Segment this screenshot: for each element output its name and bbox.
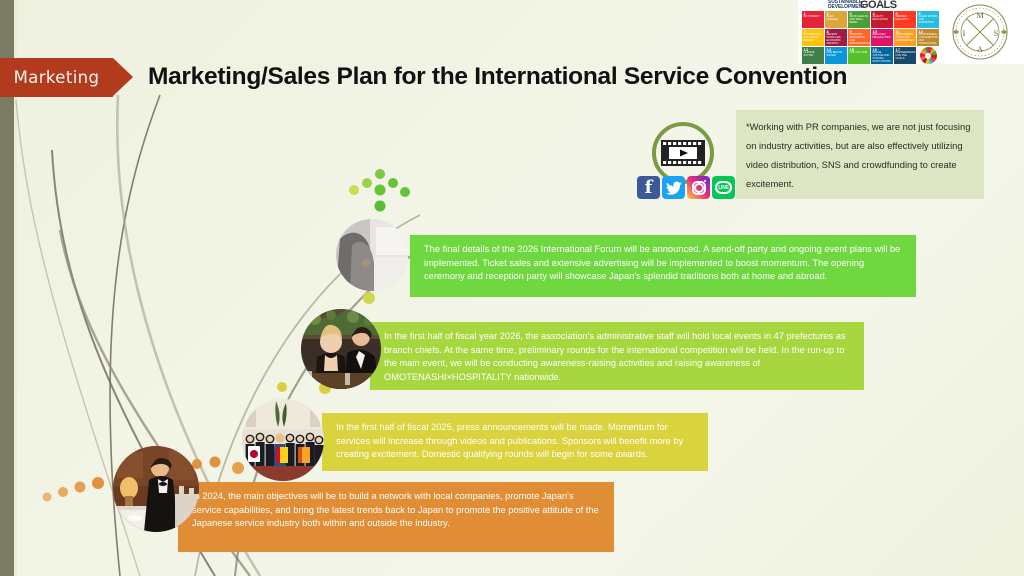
sdg-goal-13: 13CLIMATE ACTION (802, 47, 824, 64)
film-play-icon[interactable] (652, 122, 714, 184)
sdg-goal-3: 3GOOD HEALTH AND WELL-BEING (848, 11, 870, 28)
twitter-icon[interactable] (662, 176, 685, 199)
sdg-goals-word: GOALS (860, 0, 897, 11)
sdg-goal-4: 4QUALITY EDUCATION (871, 11, 893, 28)
svg-text:I: I (963, 29, 966, 38)
sdg-goal-label: ZERO HUNGER (827, 16, 846, 22)
sdg-color-wheel-icon (917, 47, 939, 64)
sdg-goal-grid: 1NO POVERTY2ZERO HUNGER3GOOD HEALTH AND … (802, 11, 939, 64)
social-icons-row: f LINE (637, 176, 735, 199)
timeline-bar-text: In the first half of fiscal 2025, press … (336, 421, 696, 462)
sdg-goal-label: PARTNERSHIPS FOR THE GOALS (896, 52, 915, 61)
sdg-goal-9: 9INDUSTRY, INNOVATION AND INFRASTRUCTURE (848, 29, 870, 46)
sdg-goal-11: 11SUSTAINABLE CITIES AND COMMUNITIES (894, 29, 916, 46)
sdg-goal-label: SUSTAINABLE CITIES AND COMMUNITIES (896, 34, 915, 43)
sdg-goal-label: LIFE BELOW WATER (827, 52, 846, 58)
sdg-goal-label: GENDER EQUALITY (896, 16, 915, 22)
sdg-goal-label: QUALITY EDUCATION (873, 16, 892, 22)
sdg-goal-7: 7AFFORDABLE AND CLEAN ENERGY (802, 29, 824, 46)
sdg-goal-15: 15LIFE ON LAND (848, 47, 870, 64)
sdg-goal-8: 8DECENT WORK AND ECONOMIC GROWTH (825, 29, 847, 46)
pr-note-box: *Working with PR companies, we are not j… (736, 110, 984, 199)
sdg-goal-label: DECENT WORK AND ECONOMIC GROWTH (827, 34, 846, 45)
sdg-goal-label: INDUSTRY, INNOVATION AND INFRASTRUCTURE (850, 34, 869, 45)
sdg-goal-10: 10REDUCED INEQUALITIES (871, 29, 893, 46)
timeline-bar-fy2026-local-events: In the first half of fiscal year 2026, t… (370, 322, 864, 390)
timeline-bar-2024-network: In 2024, the main objectives will be to … (178, 482, 614, 552)
sdg-goals-panel: SUSTAINABLE DEVELOPMENT GOALS 1NO POVERT… (798, 0, 940, 64)
sdg-goal-label: LIFE ON LAND (850, 52, 869, 55)
sdg-logo-block: SUSTAINABLE DEVELOPMENT GOALS 1NO POVERT… (798, 0, 1024, 64)
sdg-goal-label: CLIMATE ACTION (804, 52, 823, 58)
sdg-goal-2: 2ZERO HUNGER (825, 11, 847, 28)
sdg-goal-label: NO POVERTY (804, 16, 823, 19)
sdg-goal-16: 16PEACE, JUSTICE AND STRONG INSTITUTIONS (871, 47, 893, 64)
sdg-goal-label: RESPONSIBLE CONSUMPTION AND PRODUCTION (919, 34, 938, 45)
slide-canvas: Marketing Marketing/Sales Plan for the I… (0, 0, 1024, 576)
svg-text:S: S (994, 29, 998, 38)
line-icon[interactable]: LINE (712, 176, 735, 199)
sdg-goal-label: AFFORDABLE AND CLEAN ENERGY (804, 34, 823, 43)
photo-gala-dinner-couple (301, 309, 381, 389)
sdg-goal-14: 14LIFE BELOW WATER (825, 47, 847, 64)
svg-text:A: A (977, 45, 983, 54)
instagram-icon[interactable] (687, 176, 710, 199)
dotted-arrow-up-icon (345, 168, 415, 220)
timeline-bar-text: In 2024, the main objectives will be to … (192, 490, 602, 531)
facebook-icon[interactable]: f (637, 176, 660, 199)
svg-text:M: M (976, 11, 983, 20)
sdg-goal-1: 1NO POVERTY (802, 11, 824, 28)
pr-note-text: *Working with PR companies, we are not j… (746, 117, 974, 193)
sdg-goal-12: 12RESPONSIBLE CONSUMPTION AND PRODUCTION (917, 29, 939, 46)
sdg-goal-17: 17PARTNERSHIPS FOR THE GOALS (894, 47, 916, 64)
timeline-bar-text: The final details of the 2026 Internatio… (424, 243, 904, 284)
imsa-logo: M I S A (940, 1, 1020, 63)
sdg-goal-5: 5GENDER EQUALITY (894, 11, 916, 28)
photo-group-flags-ceremony (242, 399, 324, 481)
page-title: Marketing/Sales Plan for the Internation… (148, 63, 847, 91)
sdg-goal-6: 6CLEAN WATER AND SANITATION (917, 11, 939, 28)
timeline-bar-2026-forum: The final details of the 2026 Internatio… (410, 235, 916, 297)
section-tag: Marketing (0, 58, 133, 97)
section-tag-arrow (113, 58, 133, 96)
timeline-bar-text: In the first half of fiscal year 2026, t… (384, 330, 852, 384)
sdg-goal-label: CLEAN WATER AND SANITATION (919, 16, 938, 25)
sdg-goal-label: GOOD HEALTH AND WELL-BEING (850, 16, 869, 25)
photo-handshake-business (336, 219, 408, 291)
section-tag-label: Marketing (0, 58, 113, 97)
timeline-bar-fy2025-press: In the first half of fiscal 2025, press … (322, 413, 708, 471)
sdg-goal-label: PEACE, JUSTICE AND STRONG INSTITUTIONS (873, 52, 892, 63)
line-icon-label: LINE (715, 181, 732, 194)
sdg-goal-label: REDUCED INEQUALITIES (873, 34, 892, 40)
photo-waiter-restaurant (113, 446, 199, 532)
